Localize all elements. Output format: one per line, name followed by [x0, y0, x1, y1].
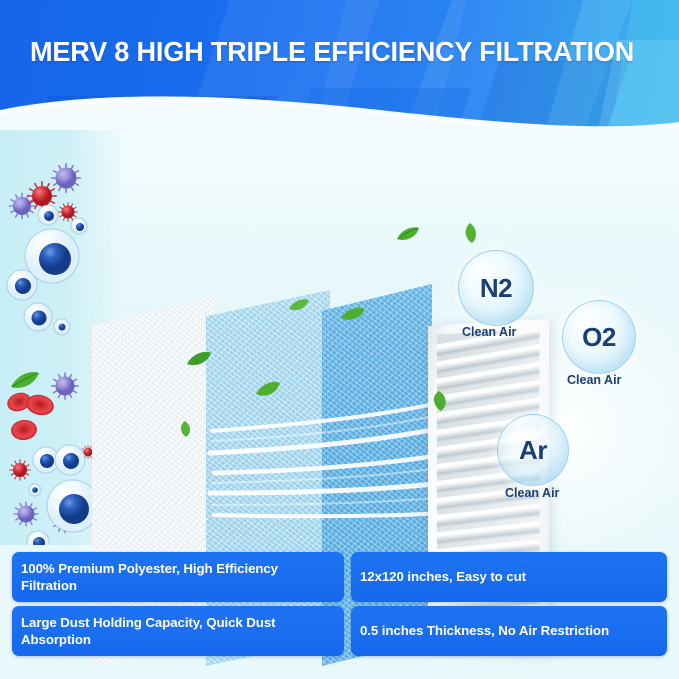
- feature-text: Large Dust Holding Capacity, Quick Dust …: [21, 614, 335, 648]
- feature-box-polyester[interactable]: 100% Premium Polyester, High Efficiency …: [12, 552, 344, 602]
- feature-text: 12x120 inches, Easy to cut: [360, 568, 526, 585]
- feature-text: 0.5 inches Thickness, No Air Restriction: [360, 622, 609, 639]
- leaf-icon: [461, 222, 479, 244]
- bubble-ar-label: Ar: [519, 435, 547, 466]
- banner-title: MERV 8 HIGH TRIPLE EFFICIENCY FILTRATION: [30, 36, 651, 68]
- feature-boxes: 100% Premium Polyester, High Efficiency …: [0, 552, 679, 658]
- bubble-o2: O2: [562, 300, 636, 374]
- leaf-icon: [428, 390, 450, 412]
- feature-box-thickness[interactable]: 0.5 inches Thickness, No Air Restriction: [351, 606, 667, 656]
- leaf-icon: [396, 226, 420, 242]
- bubble-o2-label: O2: [582, 322, 616, 353]
- feature-text: 100% Premium Polyester, High Efficiency …: [21, 560, 335, 594]
- vent-louver: [437, 503, 540, 525]
- header-banner: MERV 8 HIGH TRIPLE EFFICIENCY FILTRATION: [0, 0, 679, 142]
- bubble-ar: Ar: [497, 414, 569, 486]
- leaf-icon: [255, 380, 281, 398]
- bubble-n2-label: N2: [480, 273, 512, 304]
- leaf-icon: [186, 350, 212, 367]
- feature-box-dust-capacity[interactable]: Large Dust Holding Capacity, Quick Dust …: [12, 606, 344, 656]
- bubble-n2: N2: [458, 250, 534, 326]
- bubble-n2-caption: Clean Air: [462, 325, 516, 339]
- bubble-o2-caption: Clean Air: [567, 373, 621, 387]
- feature-box-dimensions[interactable]: 12x120 inches, Easy to cut: [351, 552, 667, 602]
- leaf-icon: [176, 420, 194, 438]
- product-infographic: MERV 8 HIGH TRIPLE EFFICIENCY FILTRATION: [0, 0, 679, 679]
- leaf-icon: [288, 298, 310, 312]
- filtration-scene: N2 Clean Air O2 Clean Air Ar Clean Air: [0, 130, 679, 545]
- leaf-icon: [10, 370, 40, 390]
- bubble-ar-caption: Clean Air: [505, 486, 559, 500]
- vent-louver: [437, 521, 540, 542]
- leaf-icon: [340, 306, 366, 322]
